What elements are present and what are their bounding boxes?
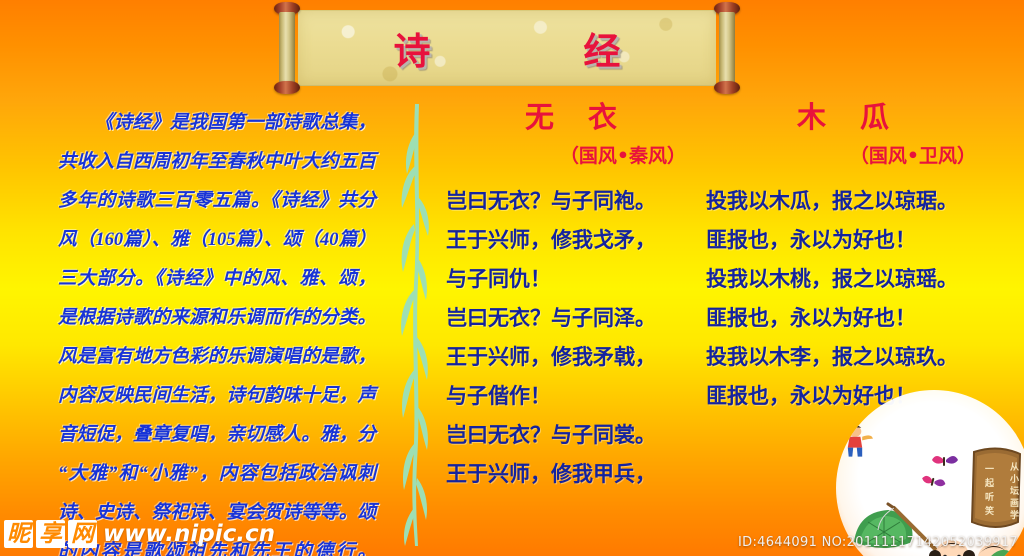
svg-text:从: 从 [1010, 462, 1019, 473]
svg-text:画: 画 [1010, 498, 1019, 509]
site-watermark: 昵 享 网 www.nipic.cn [4, 514, 275, 554]
banner-paper: 诗 经 [298, 10, 716, 86]
poem-line: 匪报也，永以为好也！ [706, 221, 1006, 260]
page-title: 诗 经 [298, 11, 716, 85]
poem-line: 岂曰无衣？与子同袍。 [446, 182, 696, 221]
vine-divider-icon [392, 104, 438, 546]
poem-title: 木 瓜 [706, 98, 1006, 136]
poem-line: 王于兴师，修我甲兵， [446, 455, 696, 494]
scroll-roller-right [714, 2, 740, 94]
poem-line: 匪报也，永以为好也！ [706, 299, 1006, 338]
poem-card-mugua: 木 瓜 （国风•卫风） 投我以木瓜，报之以琼琚。 匪报也，永以为好也！ 投我以木… [706, 98, 1006, 416]
poem-line: 岂曰无衣？与子同裳。 [446, 416, 696, 455]
poem-line: 与子同仇！ [446, 260, 696, 299]
poem-title: 无 衣 [446, 98, 696, 136]
site-url: www.nipic.cn [103, 521, 275, 547]
poem-line: 投我以木瓜，报之以琼琚。 [706, 182, 1006, 221]
roller-rod [279, 12, 295, 84]
svg-text:小: 小 [1009, 473, 1019, 485]
scroll-roller-left [274, 2, 300, 94]
poem-line: 与子偕作！ [446, 377, 696, 416]
poem-card-wuyi: 无 衣 （国风•秦风） 岂曰无衣？与子同袍。 王于兴师，修我戈矛， 与子同仇！ … [446, 98, 696, 494]
logo-char: 享 [36, 520, 65, 548]
poem-line: 王于兴师，修我戈矛， [446, 221, 696, 260]
poster-canvas: 诗 经 《诗经》是我国第一部诗歌总集，共收入自西周初年至春秋中叶大约五百多年的诗… [0, 0, 1024, 556]
poem-line: 王于兴师，修我矛戟， [446, 338, 696, 377]
svg-text:坛: 坛 [1010, 485, 1019, 497]
svg-text:学: 学 [1010, 509, 1019, 521]
scroll-banner: 诗 经 [274, 2, 740, 94]
svg-text:起: 起 [984, 477, 995, 489]
asset-id-label: ID:4644091 NO:20111117142052039917 [738, 535, 1018, 550]
poem-source: （国风•卫风） [706, 136, 1006, 176]
intro-paragraph: 《诗经》是我国第一部诗歌总集，共收入自西周初年至春秋中叶大约五百多年的诗歌三百零… [58, 104, 376, 556]
roller-rod [719, 12, 735, 84]
poem-line: 投我以木李，报之以琼玖。 [706, 338, 1006, 377]
svg-text:笑: 笑 [985, 505, 994, 517]
roller-cap-bottom-icon [274, 81, 300, 94]
poem-source: （国风•秦风） [446, 136, 696, 176]
site-logo: 昵 享 网 [4, 520, 97, 548]
children-illustration: 从小坛画学 一起听笑 [836, 390, 1024, 556]
logo-char: 网 [68, 520, 97, 548]
poem-body: 投我以木瓜，报之以琼琚。 匪报也，永以为好也！ 投我以木桃，报之以琼瑶。 匪报也… [706, 182, 1006, 416]
svg-text:听: 听 [985, 491, 994, 503]
roller-cap-bottom-icon [714, 81, 740, 94]
poem-line: 投我以木桃，报之以琼瑶。 [706, 260, 1006, 299]
poem-line: 岂曰无衣？与子同泽。 [446, 299, 696, 338]
intro-text-block: 《诗经》是我国第一部诗歌总集，共收入自西周初年至春秋中叶大约五百多年的诗歌三百零… [58, 104, 376, 556]
logo-char: 昵 [4, 520, 33, 548]
svg-text:一: 一 [985, 465, 994, 475]
poem-body: 岂曰无衣？与子同袍。 王于兴师，修我戈矛， 与子同仇！ 岂曰无衣？与子同泽。 王… [446, 182, 696, 494]
